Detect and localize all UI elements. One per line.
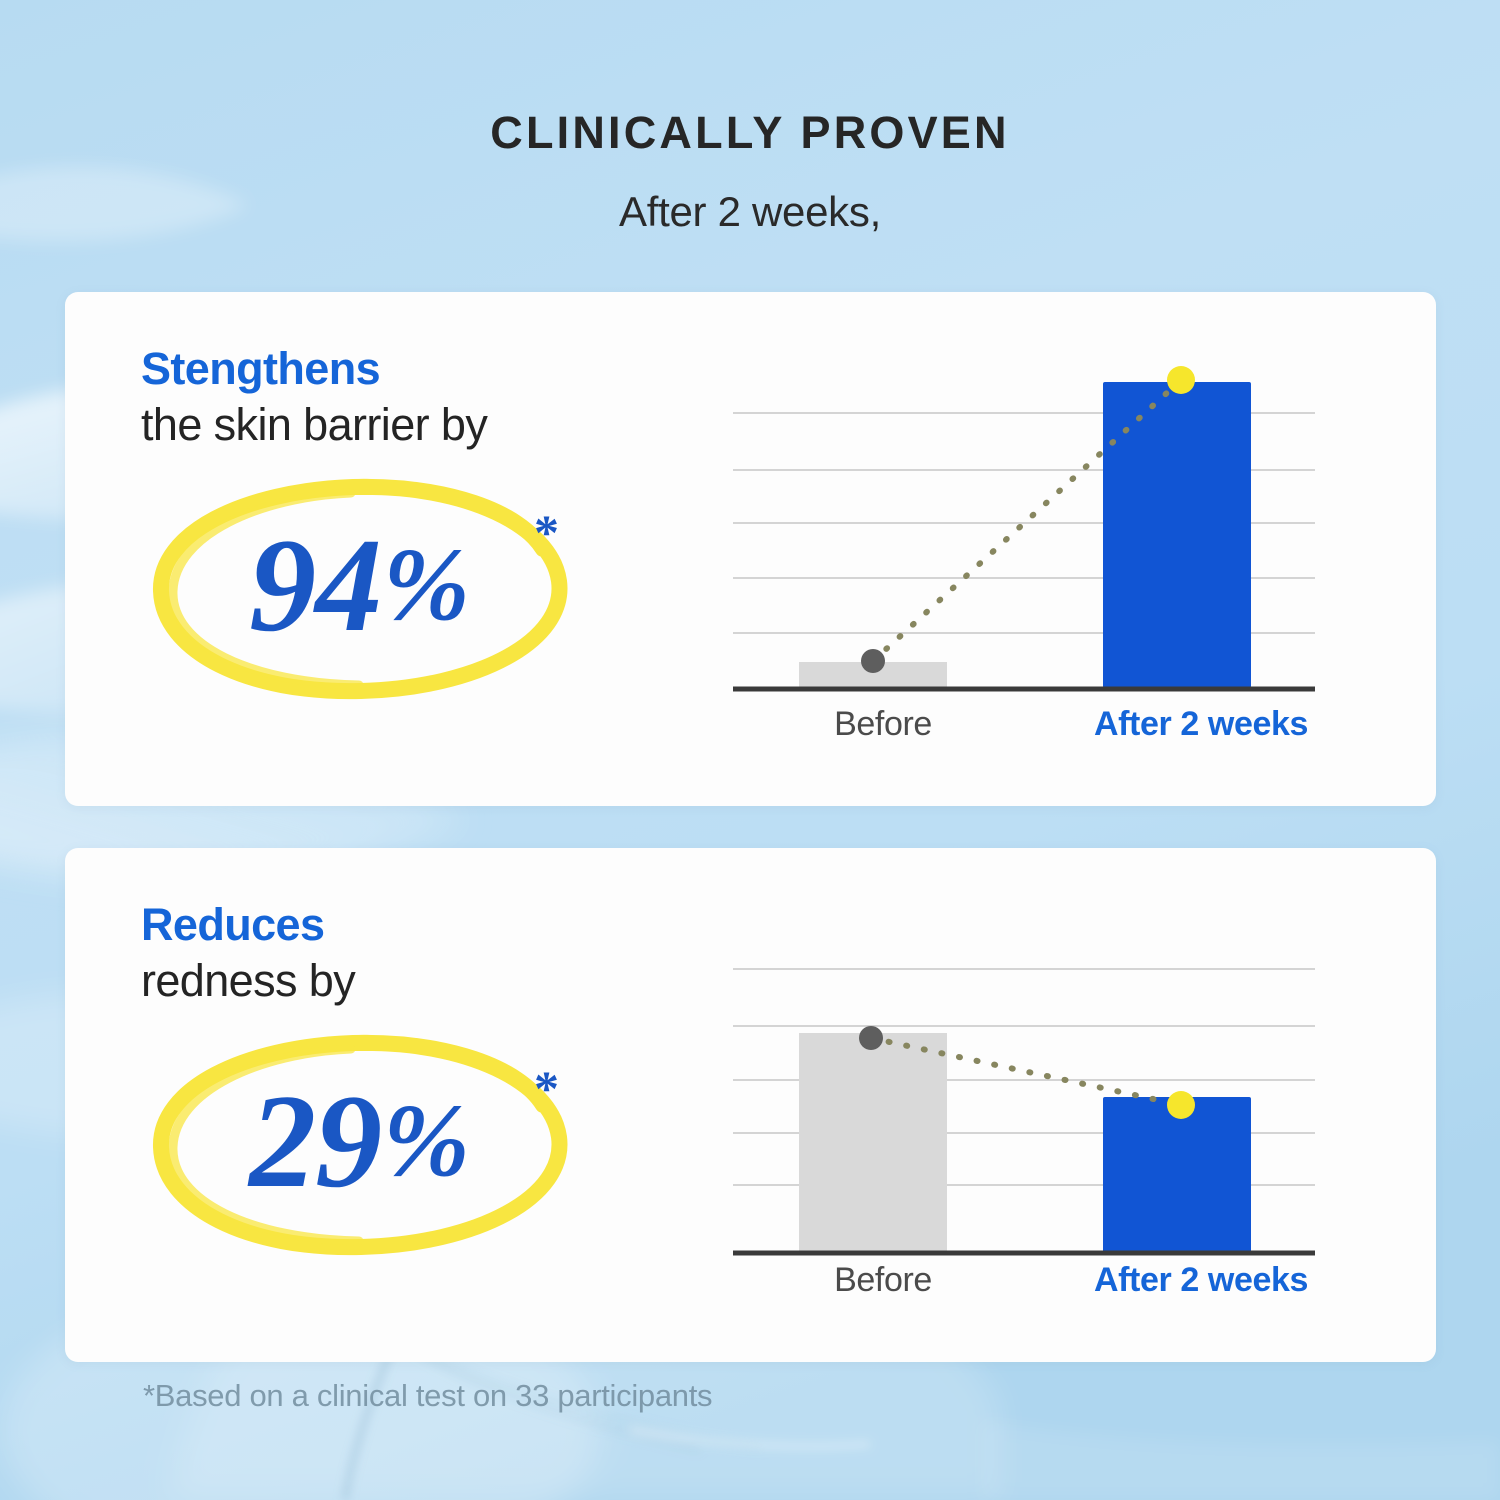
header: CLINICALLY PROVEN After 2 weeks, xyxy=(0,0,1500,236)
claim-text-block: Reduces redness by 29% * xyxy=(65,848,725,1362)
claim-headline-blue: Reduces xyxy=(141,898,725,951)
axis-label-after: After 2 weeks xyxy=(1021,1261,1381,1300)
marker-before xyxy=(861,649,885,673)
marker-after xyxy=(1167,366,1195,394)
page-title: CLINICALLY PROVEN xyxy=(0,108,1500,158)
chart-x-axis-labels: Before After 2 weeks xyxy=(725,705,1436,744)
stat-asterisk-icon: * xyxy=(534,507,559,557)
axis-label-before: Before xyxy=(753,705,1013,744)
footnote-disclaimer: *Based on a clinical test on 33 particip… xyxy=(143,1378,712,1414)
bar-after xyxy=(1103,1097,1251,1253)
chart-x-axis-labels: Before After 2 weeks xyxy=(725,1261,1436,1300)
marker-after xyxy=(1167,1091,1195,1119)
page-subtitle: After 2 weeks, xyxy=(0,188,1500,236)
stat-number: 29% xyxy=(147,1025,577,1265)
stat-unit: % xyxy=(383,1081,469,1200)
claim-text-block: Stengthens the skin barrier by 94% * xyxy=(65,292,725,806)
claim-card-strengthens: Stengthens the skin barrier by 94% * xyxy=(65,292,1436,806)
stat-highlight: 94% * xyxy=(147,469,577,709)
stat-number: 94% xyxy=(147,469,577,709)
marker-before xyxy=(859,1026,883,1050)
axis-label-before: Before xyxy=(753,1261,1013,1300)
claim-headline-blue: Stengthens xyxy=(141,342,725,395)
stat-asterisk-icon: * xyxy=(534,1063,559,1113)
stat-unit: % xyxy=(383,525,469,644)
chart-strengthens: Before After 2 weeks xyxy=(725,292,1436,806)
claim-headline-dark: the skin barrier by xyxy=(141,398,725,453)
stat-value: 94 xyxy=(249,508,381,662)
bar-before xyxy=(799,1033,947,1253)
stat-highlight: 29% * xyxy=(147,1025,577,1265)
claim-headline-dark: redness by xyxy=(141,954,725,1009)
axis-label-after: After 2 weeks xyxy=(1021,705,1381,744)
claim-card-reduces: Reduces redness by 29% * xyxy=(65,848,1436,1362)
stat-value: 29 xyxy=(249,1064,381,1218)
chart-reduces: Before After 2 weeks xyxy=(725,848,1436,1362)
